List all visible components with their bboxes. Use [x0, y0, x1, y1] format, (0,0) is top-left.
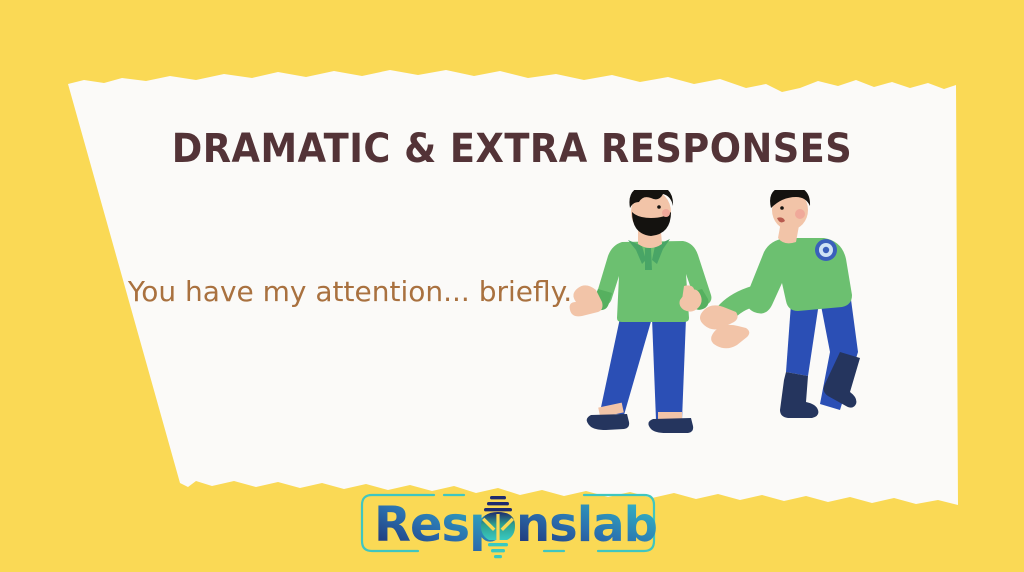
right-man-back-boot	[780, 372, 818, 418]
right-man-arm-badge-core	[823, 247, 829, 253]
left-man-eye	[657, 205, 661, 209]
bulb-cap-1	[490, 496, 506, 499]
bulb-cap-3	[484, 508, 512, 511]
left-man-front-shoe	[648, 418, 693, 433]
responslab-logo[interactable]: Resp nslab	[348, 487, 668, 559]
figure-leaning-man	[700, 190, 860, 418]
quote-text: You have my attention... briefly.	[95, 270, 605, 313]
right-man-eye	[780, 206, 784, 210]
logo-text-after-bulb: nslab	[516, 497, 657, 553]
left-man-placket	[645, 248, 652, 270]
bulb-base-3	[494, 555, 502, 558]
left-man-cheek	[662, 209, 670, 217]
page-title: DRAMATIC & EXTRA RESPONSES	[41, 126, 983, 172]
bulb-base-1	[488, 543, 508, 546]
two-men-talking-illustration	[560, 190, 880, 450]
bulb-split	[496, 514, 499, 541]
bulb-base-2	[491, 549, 505, 552]
right-man-cheek	[795, 209, 805, 219]
left-man-back-leg	[600, 318, 652, 415]
left-man-back-shoe	[587, 414, 629, 430]
left-man-front-leg	[652, 318, 686, 420]
quote-card: DRAMATIC & EXTRA RESPONSES You have my a…	[0, 0, 1024, 572]
bulb-cap-2	[487, 502, 509, 505]
figure-bearded-man	[570, 190, 712, 433]
